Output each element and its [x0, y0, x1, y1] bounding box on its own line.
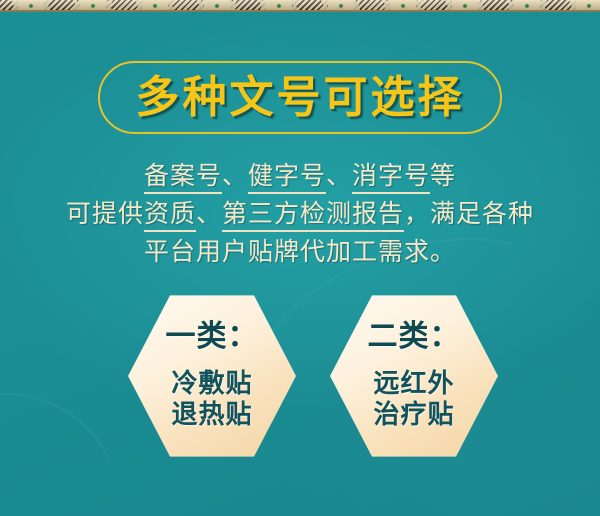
description-line-2: 可提供资质、第三方检测报告，满足各种	[0, 196, 600, 234]
category-1-heading: 一类：	[166, 322, 259, 352]
description-line-3: 平台用户贴牌代加工需求。	[0, 234, 600, 272]
category-1-item-2: 退热贴	[171, 399, 252, 430]
plain-text: 、	[222, 163, 248, 190]
category-2-item-1: 远红外	[373, 368, 454, 399]
plain-text: 可提供	[66, 201, 144, 228]
category-hexagon-1: 一类： 冷敷贴 退热贴	[128, 292, 296, 460]
emphasized-term: 资质	[144, 201, 196, 232]
plain-text: ，满足各种	[404, 201, 534, 228]
chevron-pattern-icon	[0, 0, 600, 12]
description-line-1: 备案号、健字号、消字号等	[0, 158, 600, 196]
category-hexagon-2: 二类： 远红外 治疗贴	[330, 292, 498, 460]
title-banner: 多种文号可选择	[98, 61, 502, 134]
emphasized-term: 健字号	[248, 163, 326, 194]
emphasized-term: 第三方检测报告	[222, 201, 404, 232]
category-2-heading: 二类：	[368, 322, 461, 352]
poster-root: 多种文号可选择 备案号、健字号、消字号等 可提供资质、第三方检测报告，满足各种 …	[0, 0, 600, 516]
plain-text: 、	[326, 163, 352, 190]
description-paragraph: 备案号、健字号、消字号等 可提供资质、第三方检测报告，满足各种 平台用户贴牌代加…	[0, 158, 600, 272]
emphasized-term: 消字号	[352, 163, 430, 194]
category-1-items: 冷敷贴 退热贴	[171, 368, 252, 430]
category-1-item-1: 冷敷贴	[171, 368, 252, 399]
plain-text: 平台用户贴牌代加工需求。	[144, 239, 456, 266]
plain-text: 等	[430, 163, 456, 190]
emphasized-term: 备案号	[144, 163, 222, 194]
ornamental-top-border	[0, 0, 600, 12]
plain-text: 、	[196, 201, 222, 228]
border-shading-overlay	[0, 0, 600, 12]
category-2-item-2: 治疗贴	[373, 399, 454, 430]
background-swirl-decoration	[0, 362, 144, 516]
category-2-items: 远红外 治疗贴	[373, 368, 454, 430]
page-title: 多种文号可选择	[136, 76, 465, 120]
